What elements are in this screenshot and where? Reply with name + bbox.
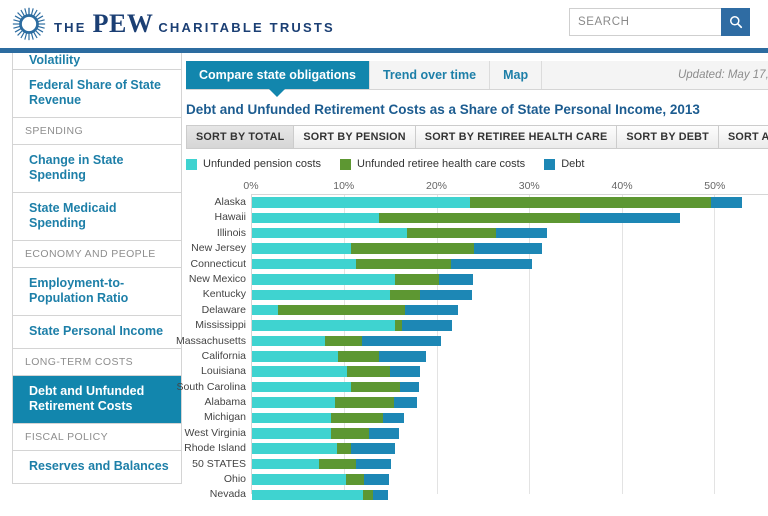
bar-segment-pension[interactable] <box>252 443 337 454</box>
bar-segment-retiree_health[interactable] <box>395 274 438 285</box>
bar-row-label: West Virginia <box>185 427 246 439</box>
sort-button-sort-a-to-z[interactable]: SORT A TO Z <box>718 125 768 149</box>
bar-row[interactable]: California <box>252 349 768 364</box>
bar-segment-debt[interactable] <box>351 443 395 454</box>
search-button[interactable] <box>721 8 750 36</box>
bar-segment-retiree_health[interactable] <box>346 474 364 485</box>
bar-segment-pension[interactable] <box>252 490 363 501</box>
stacked-bar[interactable] <box>252 443 395 454</box>
legend-swatch-pension <box>186 159 197 170</box>
bar-row-label: Ohio <box>224 473 246 485</box>
bar-segment-retiree_health[interactable] <box>351 382 400 393</box>
bar-segment-retiree_health[interactable] <box>379 213 580 224</box>
brand-pew: PEW <box>93 9 154 39</box>
stacked-bar[interactable] <box>252 213 680 224</box>
bar-row-label: Alaska <box>214 196 246 208</box>
bar-row[interactable]: West Virginia <box>252 426 768 441</box>
brand-the: THE <box>54 20 87 35</box>
pew-logo[interactable]: THE PEW CHARITABLE TRUSTS <box>0 7 335 41</box>
stacked-bar[interactable] <box>252 243 542 254</box>
bar-segment-pension[interactable] <box>252 213 379 224</box>
bar-row-label: Massachusetts <box>176 335 246 347</box>
bar-row[interactable]: Alabama <box>252 395 768 410</box>
bar-segment-pension[interactable] <box>252 228 407 239</box>
updated-date: Updated: May 17, 2016 <box>678 69 768 81</box>
stacked-bar[interactable] <box>252 259 532 270</box>
bar-segment-debt[interactable] <box>390 366 420 377</box>
stacked-bar[interactable] <box>252 320 452 331</box>
sidebar-section-header: ECONOMY AND PEOPLE <box>13 241 181 268</box>
bar-segment-pension[interactable] <box>252 459 319 470</box>
bar-segment-retiree_health[interactable] <box>470 197 711 208</box>
search-box <box>569 8 750 36</box>
bar-row[interactable]: 50 STATES <box>252 457 768 472</box>
tab-map[interactable]: Map <box>490 61 542 89</box>
bar-segment-pension[interactable] <box>252 366 347 377</box>
tab-bar: Compare state obligations Trend over tim… <box>186 61 768 90</box>
bar-row[interactable]: Alaska <box>252 195 768 210</box>
stacked-bar[interactable] <box>252 228 547 239</box>
bar-row[interactable]: Kentucky <box>252 287 768 302</box>
bar-row-label: Alabama <box>205 396 246 408</box>
bar-row-label: New Mexico <box>189 273 246 285</box>
bar-segment-debt[interactable] <box>379 351 426 362</box>
sidebar-item-state-medicaid-spending[interactable]: State Medicaid Spending <box>13 193 181 241</box>
brand-charitable-trusts: CHARITABLE TRUSTS <box>158 20 335 35</box>
stacked-bar[interactable] <box>252 382 419 393</box>
bar-row-label: Kentucky <box>203 288 246 300</box>
bar-segment-retiree_health[interactable] <box>407 228 496 239</box>
bar-segment-retiree_health[interactable] <box>390 290 420 301</box>
bar-segment-retiree_health[interactable] <box>325 336 362 347</box>
bar-row[interactable]: Mississippi <box>252 318 768 333</box>
bar-row-label: Delaware <box>202 304 246 316</box>
sort-button-group: SORT BY TOTALSORT BY PENSIONSORT BY RETI… <box>186 125 768 149</box>
bar-segment-retiree_health[interactable] <box>356 259 450 270</box>
tab-compare-state-obligations[interactable]: Compare state obligations <box>186 61 370 89</box>
sidebar: VolatilityFederal Share of State Revenue… <box>0 53 182 516</box>
legend-label: Debt <box>561 158 584 170</box>
x-tick-label: 40% <box>612 180 633 192</box>
bar-row-label: Michigan <box>204 411 246 423</box>
bar-segment-pension[interactable] <box>252 290 390 301</box>
bar-row[interactable]: Massachusetts <box>252 334 768 349</box>
stacked-bar[interactable] <box>252 490 388 501</box>
bar-segment-debt[interactable] <box>439 274 473 285</box>
bar-segment-debt[interactable] <box>420 290 472 301</box>
x-tick-label: 10% <box>333 180 354 192</box>
bar-segment-debt[interactable] <box>405 305 458 316</box>
bar-row[interactable]: Louisiana <box>252 364 768 379</box>
tab-label: Compare state obligations <box>199 68 356 82</box>
bar-segment-debt[interactable] <box>402 320 452 331</box>
bar-segment-pension[interactable] <box>252 197 470 208</box>
sidebar-item-change-in-state-spending[interactable]: Change in State Spending <box>13 145 181 193</box>
x-tick-label: 20% <box>426 180 447 192</box>
bar-row-label: New Jersey <box>191 242 246 254</box>
bar-segment-pension[interactable] <box>252 474 346 485</box>
bar-row[interactable]: Nevada <box>252 487 768 502</box>
chart-title: Debt and Unfunded Retirement Costs as a … <box>186 102 768 117</box>
stacked-bar[interactable] <box>252 197 742 208</box>
sidebar-section-header: LONG-TERM COSTS <box>13 349 181 376</box>
stacked-bar[interactable] <box>252 413 404 424</box>
bar-row-label: Mississippi <box>195 319 246 331</box>
sidebar-item-state-personal-income[interactable]: State Personal Income <box>13 316 181 349</box>
stacked-bar[interactable] <box>252 274 473 285</box>
stacked-bar[interactable] <box>252 290 472 301</box>
tab-bar-filler: Updated: May 17, 2016 <box>542 61 768 89</box>
bar-row[interactable]: New Jersey <box>252 241 768 256</box>
sort-button-sort-by-retiree-health-care[interactable]: SORT BY RETIREE HEALTH CARE <box>415 125 617 149</box>
bar-row-label: Louisiana <box>201 365 246 377</box>
sidebar-item-federal-share-of-state-revenue[interactable]: Federal Share of State Revenue <box>13 70 181 118</box>
legend-swatch-retiree_health <box>340 159 351 170</box>
search-input[interactable] <box>569 8 721 36</box>
bar-segment-debt[interactable] <box>394 397 417 408</box>
bar-segment-pension[interactable] <box>252 382 351 393</box>
bar-row[interactable]: Delaware <box>252 303 768 318</box>
sidebar-section-header: SPENDING <box>13 118 181 145</box>
stacked-bar[interactable] <box>252 397 417 408</box>
bar-segment-debt[interactable] <box>711 197 741 208</box>
bar-segment-debt[interactable] <box>580 213 680 224</box>
x-tick-label: 30% <box>519 180 540 192</box>
bar-segment-debt[interactable] <box>369 428 399 439</box>
bar-row[interactable]: South Carolina <box>252 380 768 395</box>
stacked-bar[interactable] <box>252 428 399 439</box>
chart-legend: Unfunded pension costsUnfunded retiree h… <box>186 158 768 170</box>
bar-row-label: South Carolina <box>177 381 246 393</box>
bar-row-label: Connecticut <box>191 258 246 270</box>
stacked-bar[interactable] <box>252 336 441 347</box>
bar-segment-retiree_health[interactable] <box>319 459 357 470</box>
bar-segment-retiree_health[interactable] <box>363 490 373 501</box>
x-tick-label: 50% <box>704 180 725 192</box>
bar-segment-pension[interactable] <box>252 259 356 270</box>
sidebar-item-employment-to-population-ratio[interactable]: Employment-to-Population Ratio <box>13 268 181 316</box>
bar-segment-retiree_health[interactable] <box>351 243 474 254</box>
plot-area: AlaskaHawaiiIllinoisNew JerseyConnecticu… <box>251 194 768 494</box>
sort-button-sort-by-debt[interactable]: SORT BY DEBT <box>616 125 718 149</box>
chart: 0%10%20%30%40%50%60% AlaskaHawaiiIllinoi… <box>186 180 768 494</box>
legend-label: Unfunded pension costs <box>203 158 321 170</box>
legend-label: Unfunded retiree health care costs <box>357 158 525 170</box>
bar-row-label: California <box>202 350 246 362</box>
bar-rows: AlaskaHawaiiIllinoisNew JerseyConnecticu… <box>252 195 768 503</box>
bar-segment-pension[interactable] <box>252 397 335 408</box>
bar-row-label: Rhode Island <box>184 442 246 454</box>
bar-segment-retiree_health[interactable] <box>278 305 406 316</box>
bar-segment-debt[interactable] <box>383 413 403 424</box>
bar-segment-retiree_health[interactable] <box>335 397 394 408</box>
bar-segment-retiree_health[interactable] <box>331 413 383 424</box>
bar-segment-retiree_health[interactable] <box>338 351 379 362</box>
main-panel: Compare state obligations Trend over tim… <box>182 53 768 516</box>
bar-row[interactable]: Michigan <box>252 410 768 425</box>
bar-segment-debt[interactable] <box>496 228 547 239</box>
bar-segment-pension[interactable] <box>252 413 331 424</box>
tab-label: Map <box>503 68 528 82</box>
sidebar-nav: VolatilityFederal Share of State Revenue… <box>12 53 182 484</box>
bar-segment-debt[interactable] <box>400 382 419 393</box>
bar-row[interactable]: Connecticut <box>252 257 768 272</box>
bar-segment-pension[interactable] <box>252 351 338 362</box>
bar-segment-debt[interactable] <box>356 459 390 470</box>
sidebar-section-header: FISCAL POLICY <box>13 424 181 451</box>
bar-row-label: 50 STATES <box>192 458 246 470</box>
bar-segment-debt[interactable] <box>373 490 388 501</box>
sunburst-icon <box>12 7 46 41</box>
bar-row[interactable]: Hawaii <box>252 210 768 225</box>
legend-item-debt[interactable]: Debt <box>544 158 584 170</box>
bar-segment-pension[interactable] <box>252 428 331 439</box>
bar-segment-debt[interactable] <box>474 243 542 254</box>
bar-row-label: Illinois <box>217 227 246 239</box>
stacked-bar[interactable] <box>252 474 389 485</box>
bar-segment-pension[interactable] <box>252 274 395 285</box>
bar-row[interactable]: Illinois <box>252 226 768 241</box>
tab-trend-over-time[interactable]: Trend over time <box>370 61 490 89</box>
legend-item-retiree_health[interactable]: Unfunded retiree health care costs <box>340 158 525 170</box>
sort-button-sort-by-total[interactable]: SORT BY TOTAL <box>186 125 293 149</box>
stacked-bar[interactable] <box>252 459 391 470</box>
bar-row-label: Hawaii <box>214 211 246 223</box>
sidebar-item-reserves-and-balances[interactable]: Reserves and Balances <box>13 451 181 484</box>
bar-segment-debt[interactable] <box>451 259 532 270</box>
bar-segment-pension[interactable] <box>252 320 395 331</box>
sidebar-item-debt-and-unfunded-retirement-costs[interactable]: Debt and Unfunded Retirement Costs <box>13 376 181 424</box>
bar-row[interactable]: Ohio <box>252 472 768 487</box>
bar-segment-pension[interactable] <box>252 305 278 316</box>
search-icon <box>729 15 743 29</box>
bar-segment-retiree_health[interactable] <box>347 366 390 377</box>
site-header: THE PEW CHARITABLE TRUSTS <box>0 0 768 48</box>
bar-segment-pension[interactable] <box>252 243 351 254</box>
bar-segment-debt[interactable] <box>364 474 389 485</box>
sidebar-item-volatility[interactable]: Volatility <box>13 53 181 70</box>
bar-row[interactable]: New Mexico <box>252 272 768 287</box>
stacked-bar[interactable] <box>252 366 420 377</box>
x-tick-label: 0% <box>243 180 258 192</box>
stacked-bar[interactable] <box>252 351 426 362</box>
bar-segment-debt[interactable] <box>362 336 441 347</box>
bar-row-label: Nevada <box>210 488 246 500</box>
legend-item-pension[interactable]: Unfunded pension costs <box>186 158 321 170</box>
legend-swatch-debt <box>544 159 555 170</box>
x-axis-tick-labels: 0%10%20%30%40%50%60% <box>251 180 768 194</box>
stacked-bar[interactable] <box>252 305 458 316</box>
bar-segment-retiree_health[interactable] <box>337 443 351 454</box>
bar-segment-retiree_health[interactable] <box>331 428 369 439</box>
tab-label: Trend over time <box>383 68 476 82</box>
bar-row[interactable]: Rhode Island <box>252 441 768 456</box>
bar-segment-pension[interactable] <box>252 336 325 347</box>
sort-button-sort-by-pension[interactable]: SORT BY PENSION <box>293 125 414 149</box>
